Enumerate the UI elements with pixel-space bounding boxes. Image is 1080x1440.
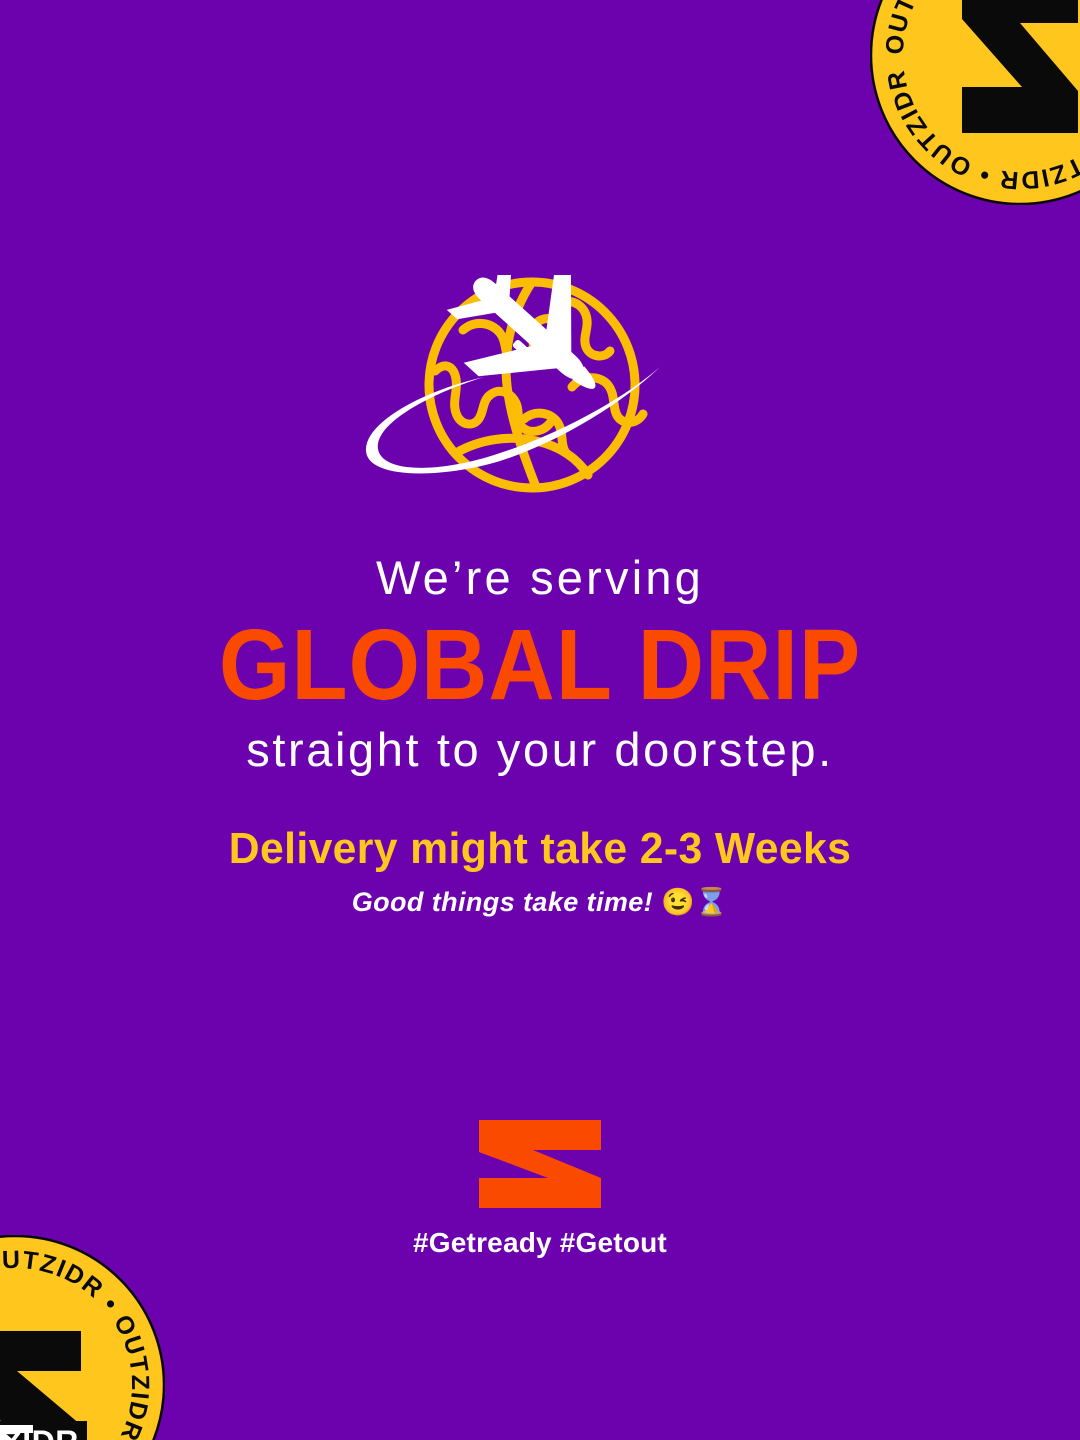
delivery-reassurance-label: Good things take time! [352, 887, 653, 917]
headline-block: We’re serving GLOBAL DRIP straight to yo… [0, 552, 1080, 777]
promo-poster: OUTZIDR • OUTZIDR • OUTZIDR • OUTZIDR • … [0, 0, 1080, 1440]
delivery-reassurance-text: Good things take time! 😉⌛ [0, 886, 1080, 918]
outzidr-z-logo [476, 1118, 604, 1210]
delivery-block: Delivery might take 2-3 Weeks Good thing… [0, 823, 1080, 918]
footer-block: #Getready #Getout [0, 1118, 1080, 1259]
headline-subline: straight to your doorstep. [0, 723, 1080, 777]
brand-tagline: #Getready #Getout [0, 1227, 1080, 1259]
outzidr-sticker-bottom-left: OUTZIDR • OUTZIDR • OUTZIDR • OUTZIDR • … [0, 1235, 165, 1440]
wink-hourglass-emoji: 😉⌛ [661, 887, 728, 917]
globe-airplane-icon [360, 275, 720, 510]
outzidr-sticker-top-right: OUTZIDR • OUTZIDR • OUTZIDR • OUTZIDR • … [870, 0, 1080, 205]
delivery-time-text: Delivery might take 2-3 Weeks [16, 823, 1064, 874]
headline-kicker: We’re serving [0, 552, 1080, 605]
headline-title: GLOBAL DRIP [43, 615, 1037, 715]
